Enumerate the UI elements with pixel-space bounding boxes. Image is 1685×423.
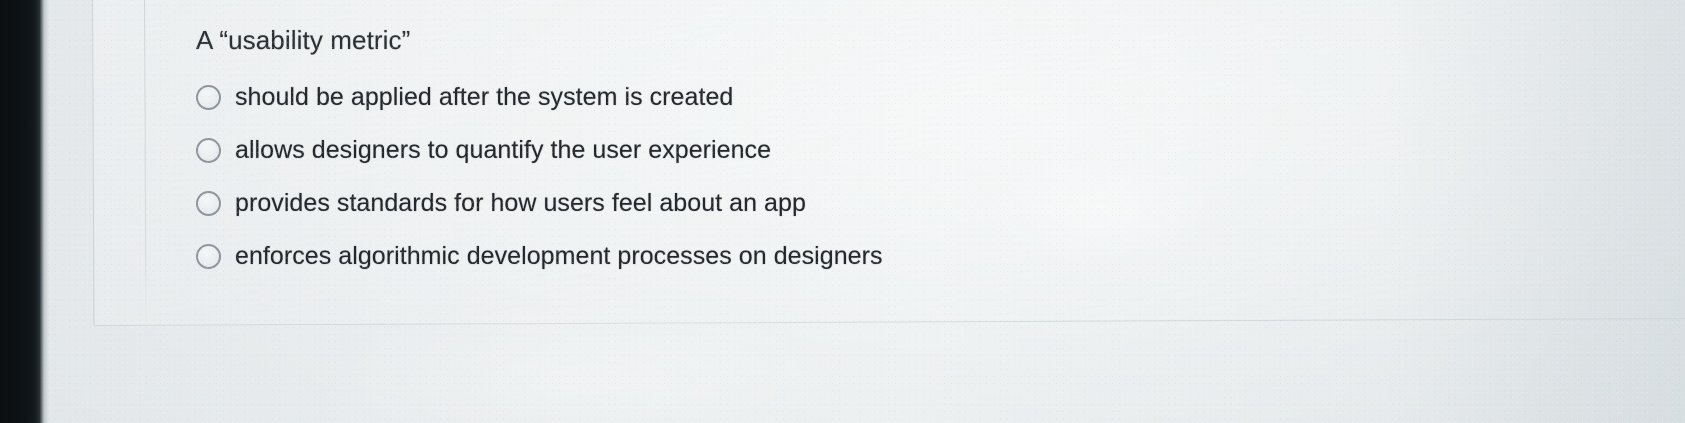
radio-button-icon-2[interactable]: [196, 138, 221, 163]
answer-option-label-1: should be applied after the system is cr…: [235, 82, 733, 112]
question-block: A “usability metric” should be applied a…: [196, 24, 1376, 271]
device-bezel-edge: [40, 0, 49, 423]
answer-options-list: should be applied after the system is cr…: [196, 82, 1376, 271]
answer-option-label-4: enforces algorithmic development process…: [235, 241, 883, 271]
radio-button-icon-1[interactable]: [196, 85, 221, 110]
radio-button-icon-4[interactable]: [196, 244, 221, 269]
quiz-screenshot: A “usability metric” should be applied a…: [0, 0, 1685, 423]
question-title: A “usability metric”: [196, 24, 1376, 56]
device-bezel: [0, 0, 40, 423]
answer-option-label-3: provides standards for how users feel ab…: [235, 188, 806, 218]
answer-option-3[interactable]: provides standards for how users feel ab…: [196, 188, 806, 218]
answer-option-1[interactable]: should be applied after the system is cr…: [196, 82, 733, 112]
answer-option-label-2: allows designers to quantify the user ex…: [235, 135, 771, 165]
answer-option-2[interactable]: allows designers to quantify the user ex…: [196, 135, 771, 165]
radio-button-icon-3[interactable]: [196, 191, 221, 216]
answer-option-4[interactable]: enforces algorithmic development process…: [196, 241, 883, 271]
